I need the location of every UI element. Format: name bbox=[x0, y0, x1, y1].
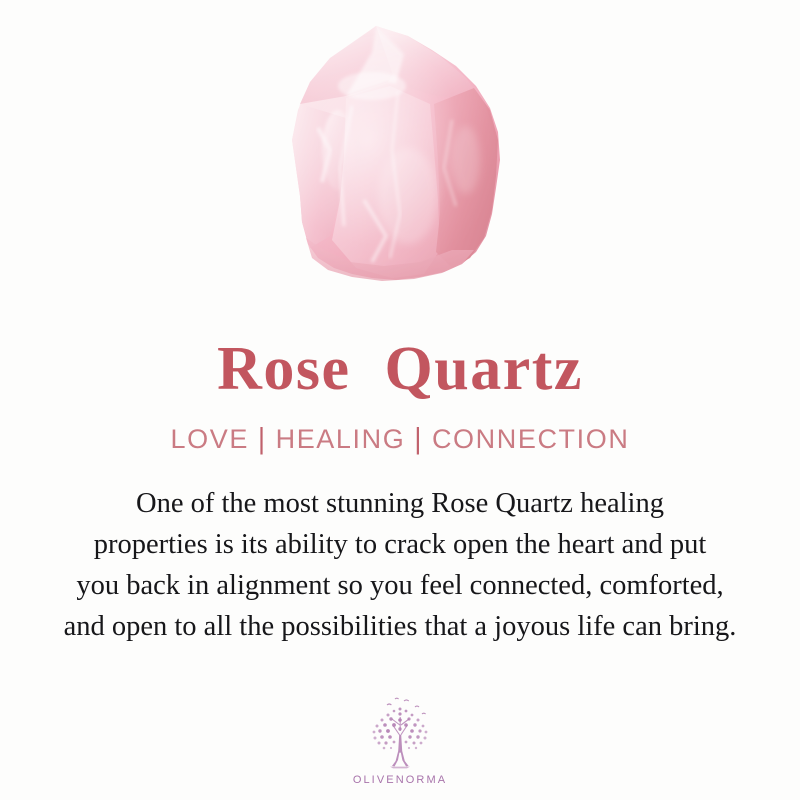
description-line: One of the most stunning Rose Quartz hea… bbox=[20, 483, 780, 524]
description-paragraph: One of the most stunning Rose Quartz hea… bbox=[20, 483, 780, 647]
keyword-love: LOVE bbox=[171, 426, 249, 453]
keyword-line: LOVE | HEALING | CONNECTION bbox=[171, 426, 630, 453]
page-title: Rose Quartz bbox=[217, 338, 583, 400]
bird-icon bbox=[395, 698, 399, 699]
bird-icon bbox=[415, 706, 419, 707]
description-line: properties is its ability to crack open … bbox=[20, 524, 780, 565]
bird-icon bbox=[404, 700, 409, 701]
keyword-separator: | bbox=[414, 425, 423, 454]
keyword-connection: CONNECTION bbox=[432, 426, 630, 453]
description-line: and open to all the possibilities that a… bbox=[20, 606, 780, 647]
product-info-card: Rose Quartz LOVE | HEALING | CONNECTION … bbox=[0, 0, 800, 800]
crystal-glow bbox=[276, 35, 496, 285]
tree-of-life-icon bbox=[357, 695, 443, 771]
rose-quartz-crystal-image bbox=[0, 0, 800, 310]
bird-icon bbox=[387, 704, 391, 705]
brand-wordmark: OLIVENORMA bbox=[353, 774, 447, 786]
brand-logo: OLIVENORMA bbox=[0, 695, 800, 786]
hero-image-area bbox=[0, 0, 800, 310]
keyword-separator: | bbox=[258, 425, 267, 454]
keyword-healing: HEALING bbox=[276, 426, 406, 453]
bird-icon bbox=[422, 713, 426, 714]
description-line: you back in alignment so you feel connec… bbox=[20, 565, 780, 606]
